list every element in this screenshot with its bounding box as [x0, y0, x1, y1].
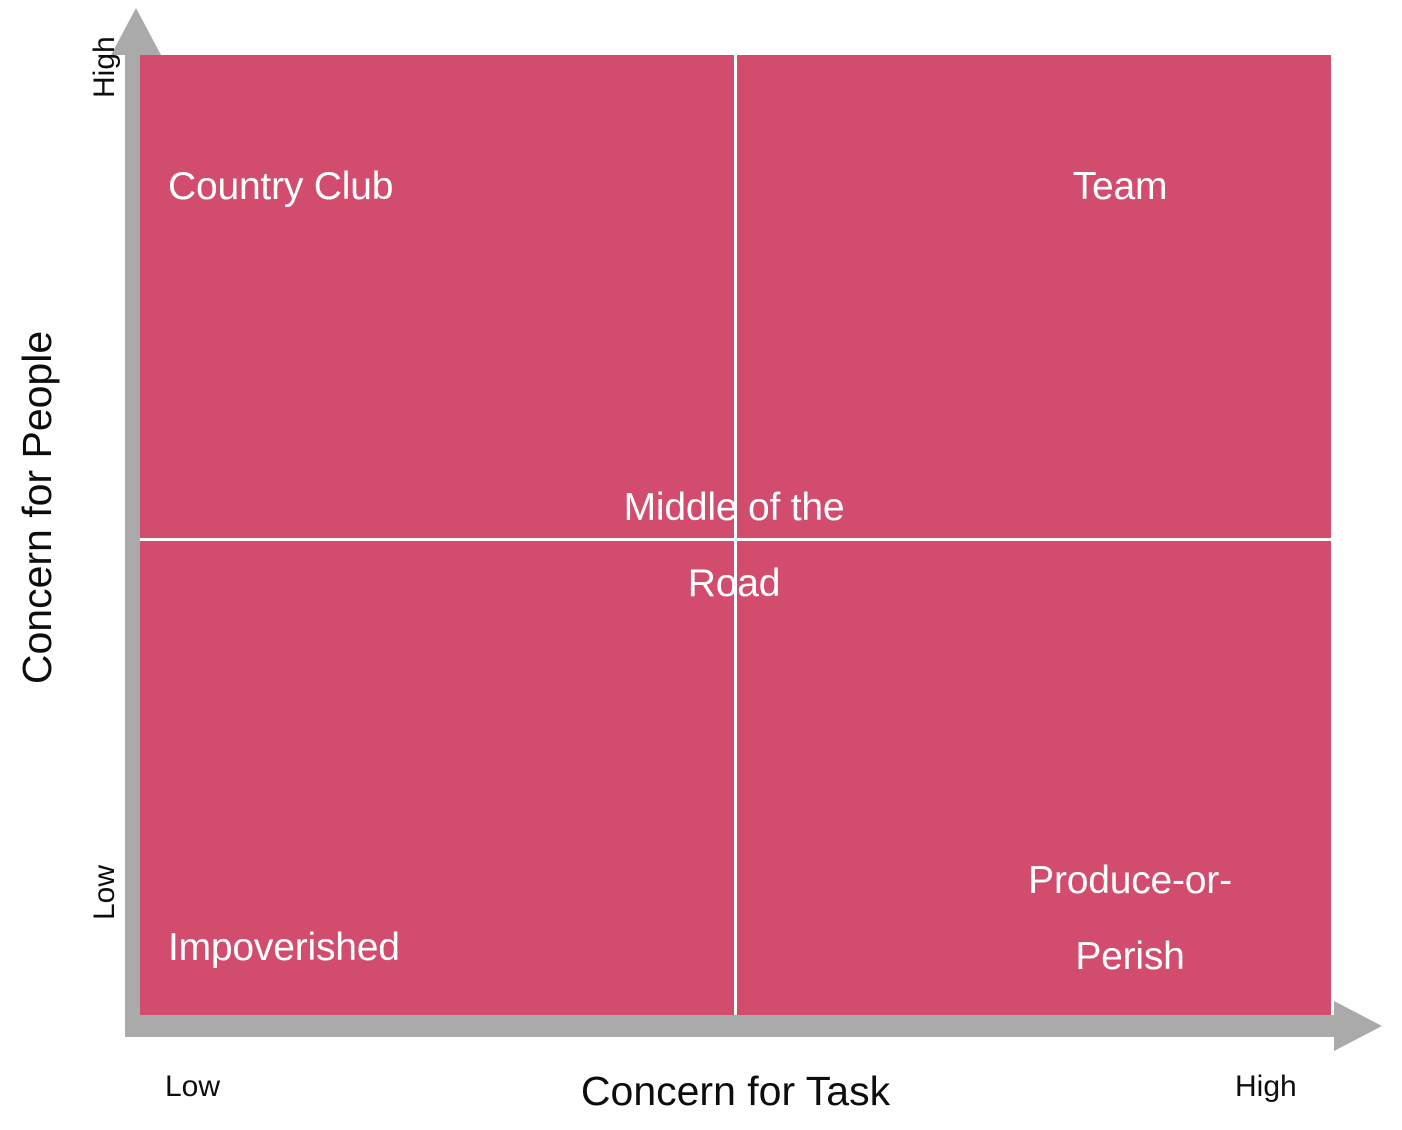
y-axis-title-text: Concern for People	[15, 331, 62, 684]
quadrant-label-country-club: Country Club	[168, 167, 393, 206]
quadrant-label-team: Team	[960, 167, 1280, 206]
quadrant-label-middle-of-the-road: Middle of the Road	[534, 470, 934, 622]
managerial-grid-chart: Country Club Team Middle of the Road Imp…	[0, 0, 1402, 1130]
x-axis-low-label: Low	[165, 1070, 220, 1104]
x-axis-high-label: High	[1235, 1070, 1297, 1104]
quadrant-label-impoverished: Impoverished	[168, 928, 400, 967]
y-axis-title: Concern for People	[0, 0, 76, 1015]
quadrant-label-produce-or-perish: Produce-or- Perish	[980, 843, 1280, 995]
x-axis-title: Concern for Task	[140, 1068, 1331, 1115]
y-axis-low-label: Low	[88, 865, 122, 920]
y-axis-high-label: High	[88, 36, 122, 98]
quadrant-matrix: Country Club Team Middle of the Road Imp…	[140, 55, 1331, 1015]
